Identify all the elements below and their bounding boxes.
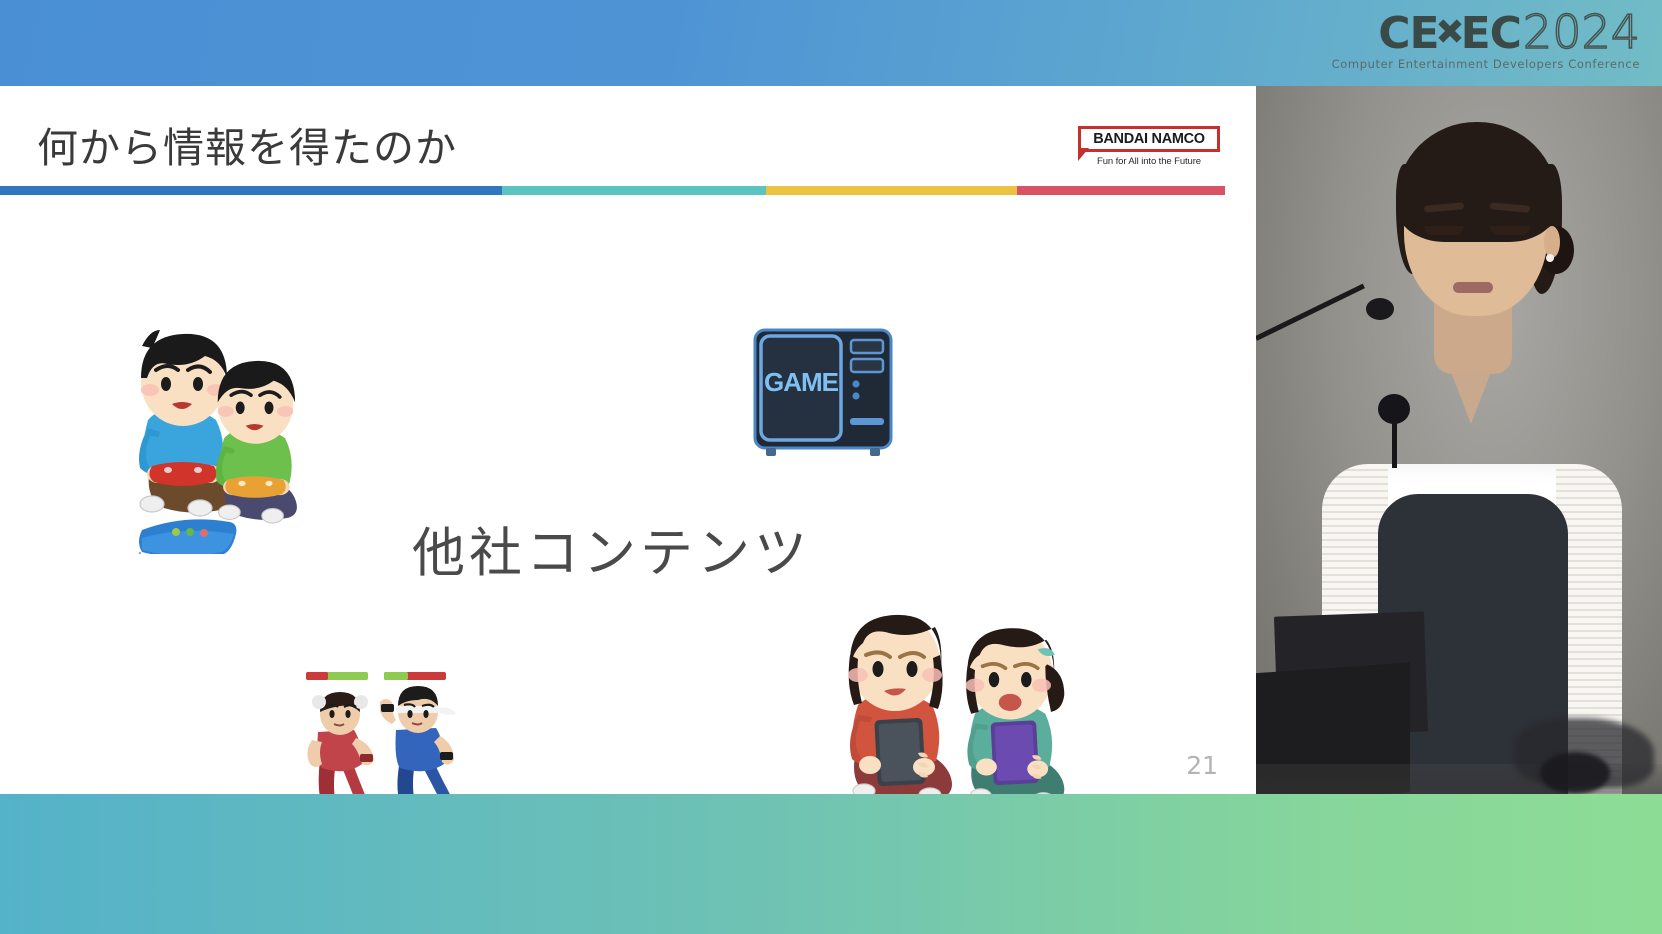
two-boys-playing-console-illustration xyxy=(128,324,318,554)
bandai-namco-logo: BANDAI NAMCO Fun for All into the Future xyxy=(1078,126,1220,167)
accent-segment-blue xyxy=(0,186,502,195)
screen-root: CE EC 2024 Computer Entertainment Develo… xyxy=(0,0,1662,934)
top-banner: CE EC 2024 Computer Entertainment Develo… xyxy=(0,0,1662,86)
cedec-x-icon xyxy=(1437,14,1463,48)
svg-text:GAME: GAME xyxy=(764,367,839,397)
center-label: 他社コンテンツ xyxy=(412,511,811,587)
cedec-wordmark: CE EC 2024 xyxy=(1332,9,1640,56)
bandai-namco-logo-box: BANDAI NAMCO xyxy=(1078,126,1220,152)
accent-segment-red xyxy=(1017,186,1225,195)
cedec-year: 2024 xyxy=(1523,9,1640,55)
speaker-video-content xyxy=(1256,86,1662,794)
speaker-eye-left xyxy=(1424,226,1464,235)
accent-bar xyxy=(0,186,1225,195)
bandai-namco-tagline: Fun for All into the Future xyxy=(1078,156,1220,167)
cedec-logo: CE EC 2024 Computer Entertainment Develo… xyxy=(1332,9,1640,71)
page-number: 21 xyxy=(1186,751,1218,780)
speaker-ear xyxy=(1544,226,1560,258)
accent-segment-yellow xyxy=(766,186,1017,195)
hand-blur-secondary xyxy=(1540,752,1610,794)
microphone-capsule-icon xyxy=(1366,298,1394,320)
slide-title: 何から情報を得たのか xyxy=(37,114,457,174)
speaker-earring xyxy=(1546,254,1554,262)
speaker-mouth xyxy=(1453,282,1493,293)
two-girls-with-smartphones-illustration xyxy=(838,601,1093,794)
cedec-prefix: CE xyxy=(1378,12,1438,56)
bandai-namco-name: BANDAI NAMCO xyxy=(1087,132,1211,147)
fighting-game-characters-illustration xyxy=(296,666,456,794)
presentation-slide: 何から情報を得たのか BANDAI NAMCO Fun for All into… xyxy=(0,86,1256,794)
cedec-suffix: EC xyxy=(1461,12,1521,56)
speaker-video-feed xyxy=(1256,86,1662,794)
logo-tail-icon xyxy=(1078,148,1089,161)
speaker-eye-right xyxy=(1490,226,1530,235)
accent-segment-teal xyxy=(502,186,765,195)
second-microphone-capsule-icon xyxy=(1378,394,1410,424)
cedec-subtitle: Computer Entertainment Developers Confer… xyxy=(1332,59,1640,71)
gaming-pc-tower-icon: GAME xyxy=(752,326,897,458)
bottom-banner xyxy=(0,794,1662,934)
